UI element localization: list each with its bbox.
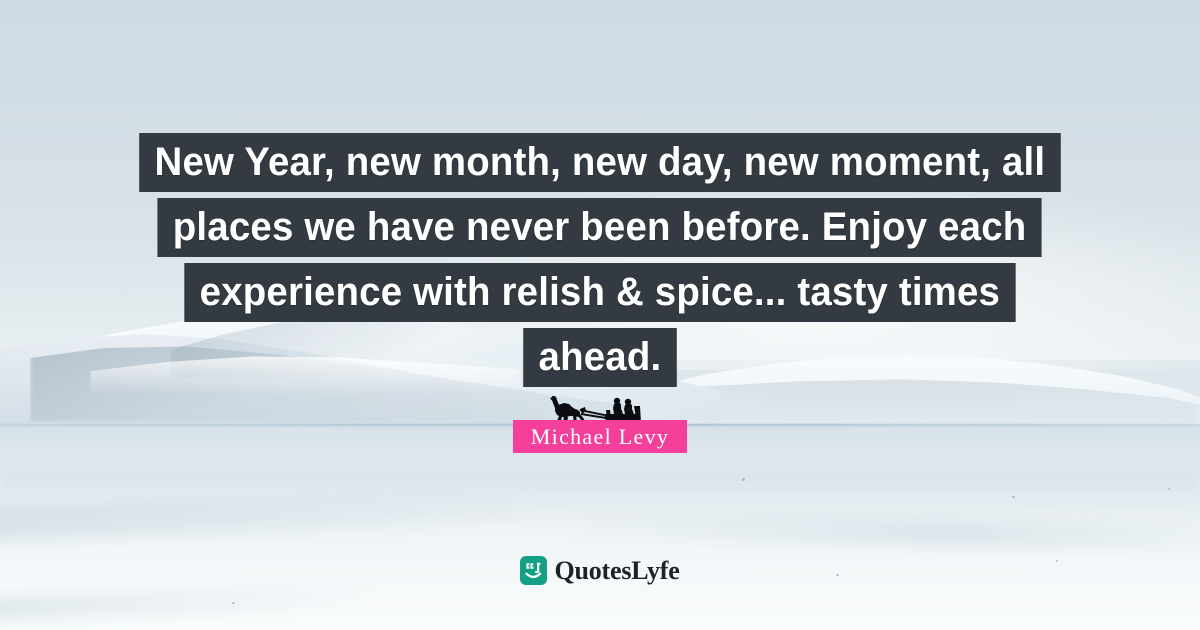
quote-text-block: New Year, new month, new day, new moment… xyxy=(0,133,1200,387)
brand-name: QuotesLyfe xyxy=(554,556,679,585)
snow-speck xyxy=(232,602,235,604)
quote-line-text: ahead. xyxy=(523,328,677,387)
quote-card: New Year, new month, new day, new moment… xyxy=(0,0,1200,630)
quote-line-text: places we have never been before. Enjoy … xyxy=(158,198,1042,257)
quote-line: experience with relish & spice... tasty … xyxy=(0,263,1200,322)
quote-line: New Year, new month, new day, new moment… xyxy=(0,133,1200,192)
quote-line: ahead. xyxy=(0,328,1200,387)
author-block: Michael Levy xyxy=(0,420,1200,453)
snow-speck xyxy=(1168,488,1170,490)
quote-smiley-icon xyxy=(520,556,547,585)
quote-line-text: New Year, new month, new day, new moment… xyxy=(139,133,1060,192)
snow-speck xyxy=(1012,496,1015,498)
quote-line-text: experience with relish & spice... tasty … xyxy=(184,263,1015,322)
brand-logo[interactable]: QuotesLyfe xyxy=(0,556,1200,585)
author-name: Michael Levy xyxy=(513,420,687,453)
quote-line: places we have never been before. Enjoy … xyxy=(0,198,1200,257)
snow-speck xyxy=(742,478,745,481)
